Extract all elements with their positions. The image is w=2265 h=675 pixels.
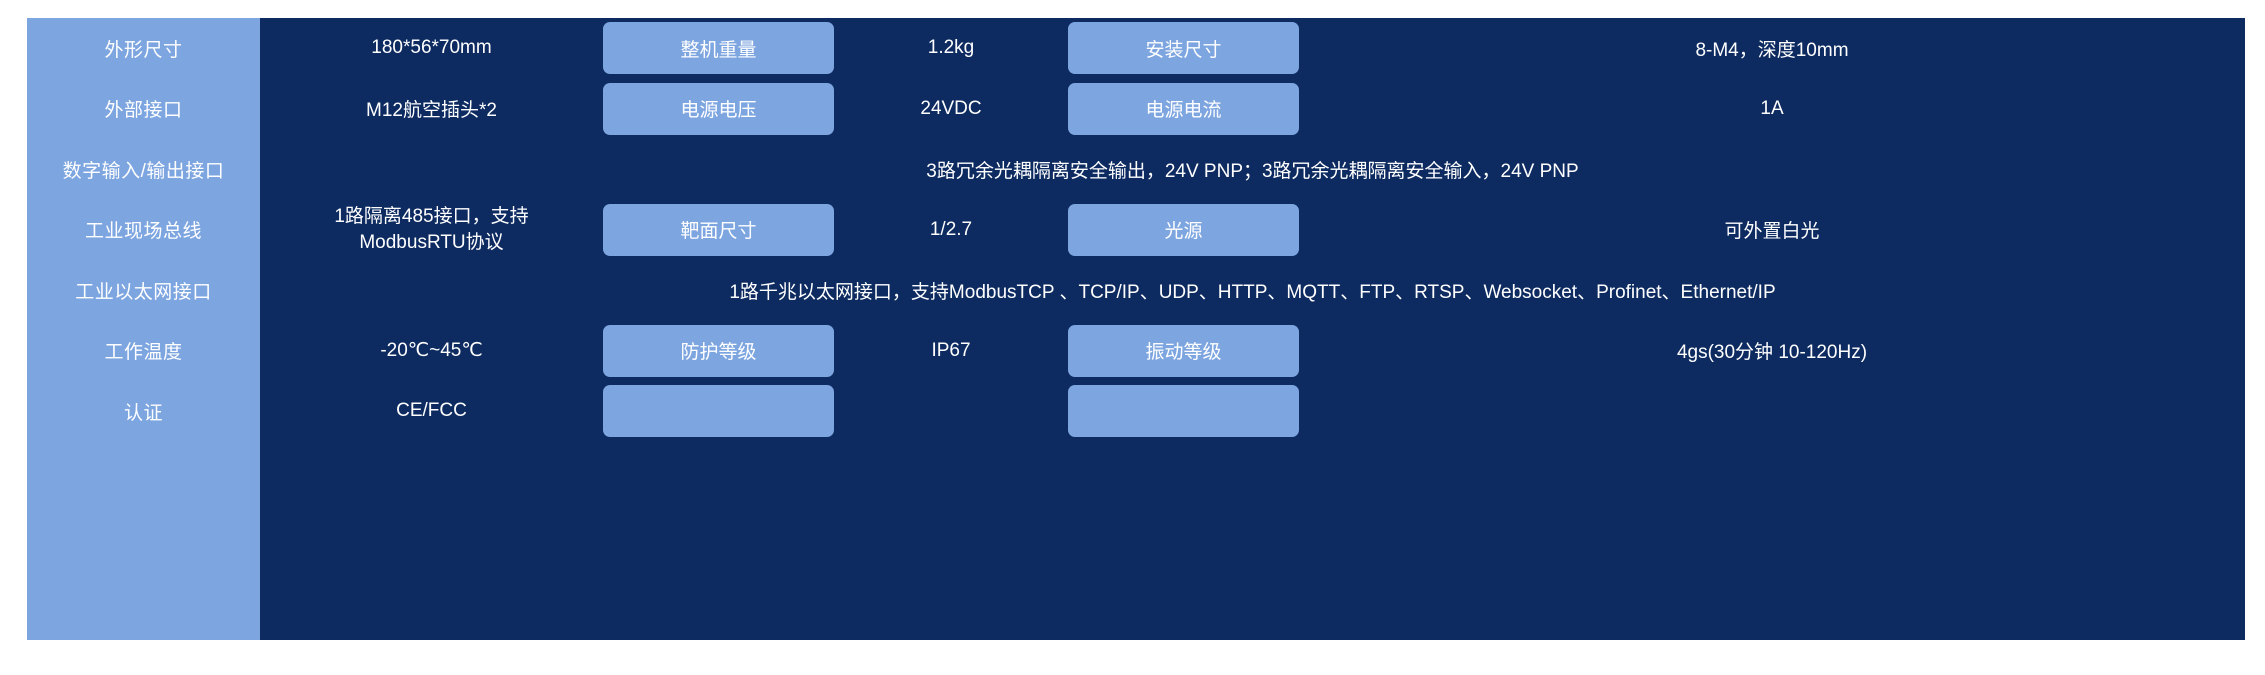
cell-value: 1A <box>1299 79 2245 140</box>
cell-key-chip: 振动等级 <box>1068 321 1299 382</box>
key-chip-label <box>603 385 834 437</box>
row-label: 工业现场总线 <box>27 200 260 261</box>
cell-value: 4gs(30分钟 10-120Hz) <box>1299 321 2245 382</box>
cell-value-merged: 3路冗余光耦隔离安全输出，24V PNP；3路冗余光耦隔离安全输入，24V PN… <box>260 139 2245 200</box>
cell-value-line: ModbusRTU协议 <box>334 230 528 256</box>
cell-value: CE/FCC <box>260 381 603 442</box>
cell-value: 180*56*70mm <box>260 18 603 79</box>
cell-value <box>1299 381 2245 442</box>
table-row: 3路冗余光耦隔离安全输出，24V PNP；3路冗余光耦隔离安全输入，24V PN… <box>260 139 2245 200</box>
key-chip-label: 电源电流 <box>1068 83 1299 135</box>
cell-value: IP67 <box>834 321 1068 382</box>
key-chip-label: 整机重量 <box>603 22 834 74</box>
key-chip-label: 振动等级 <box>1068 325 1299 377</box>
table-row: 180*56*70mm 整机重量 1.2kg 安装尺寸 8-M4，深度10mm <box>260 18 2245 79</box>
key-chip-label <box>1068 385 1299 437</box>
cell-value-line: 1路隔离485接口，支持 <box>334 204 528 230</box>
cell-value: 1.2kg <box>834 18 1068 79</box>
cell-key-chip: 整机重量 <box>603 18 834 79</box>
table-rows: 180*56*70mm 整机重量 1.2kg 安装尺寸 8-M4，深度10mm … <box>260 18 2245 640</box>
cell-value-merged: 1路千兆以太网接口，支持ModbusTCP 、TCP/IP、UDP、HTTP、M… <box>260 260 2245 321</box>
cell-value: 24VDC <box>834 79 1068 140</box>
table-row: 1路隔离485接口，支持 ModbusRTU协议 靶面尺寸 1/2.7 光源 可… <box>260 200 2245 261</box>
cell-key-chip: 靶面尺寸 <box>603 200 834 261</box>
cell-key-chip <box>1068 381 1299 442</box>
row-label: 认证 <box>27 381 260 442</box>
cell-value: 8-M4，深度10mm <box>1299 18 2245 79</box>
key-chip-label: 电源电压 <box>603 83 834 135</box>
table-row: -20℃~45℃ 防护等级 IP67 振动等级 4gs(30分钟 10-120H… <box>260 321 2245 382</box>
row-label: 外形尺寸 <box>27 18 260 79</box>
table-row: M12航空插头*2 电源电压 24VDC 电源电流 1A <box>260 79 2245 140</box>
row-label: 外部接口 <box>27 79 260 140</box>
key-chip-label: 光源 <box>1068 204 1299 256</box>
table-row: 1路千兆以太网接口，支持ModbusTCP 、TCP/IP、UDP、HTTP、M… <box>260 260 2245 321</box>
cell-value: -20℃~45℃ <box>260 321 603 382</box>
cell-key-chip: 光源 <box>1068 200 1299 261</box>
cell-key-chip: 防护等级 <box>603 321 834 382</box>
key-chip-label: 靶面尺寸 <box>603 204 834 256</box>
cell-value: M12航空插头*2 <box>260 79 603 140</box>
specification-table: 外形尺寸 外部接口 数字输入/输出接口 工业现场总线 工业以太网接口 工作温度 … <box>0 0 2265 675</box>
cell-key-chip: 安装尺寸 <box>1068 18 1299 79</box>
cell-value: 1路隔离485接口，支持 ModbusRTU协议 <box>260 200 603 261</box>
cell-value: 可外置白光 <box>1299 200 2245 261</box>
cell-value <box>834 381 1068 442</box>
row-label: 工作温度 <box>27 321 260 382</box>
cell-key-chip: 电源电流 <box>1068 79 1299 140</box>
cell-value: 1/2.7 <box>834 200 1068 261</box>
key-chip-label: 安装尺寸 <box>1068 22 1299 74</box>
row-label-column: 外形尺寸 外部接口 数字输入/输出接口 工业现场总线 工业以太网接口 工作温度 … <box>27 18 260 640</box>
key-chip-label: 防护等级 <box>603 325 834 377</box>
row-label: 数字输入/输出接口 <box>27 139 260 200</box>
table-row: CE/FCC <box>260 381 2245 442</box>
row-label: 工业以太网接口 <box>27 260 260 321</box>
cell-key-chip <box>603 381 834 442</box>
cell-key-chip: 电源电压 <box>603 79 834 140</box>
